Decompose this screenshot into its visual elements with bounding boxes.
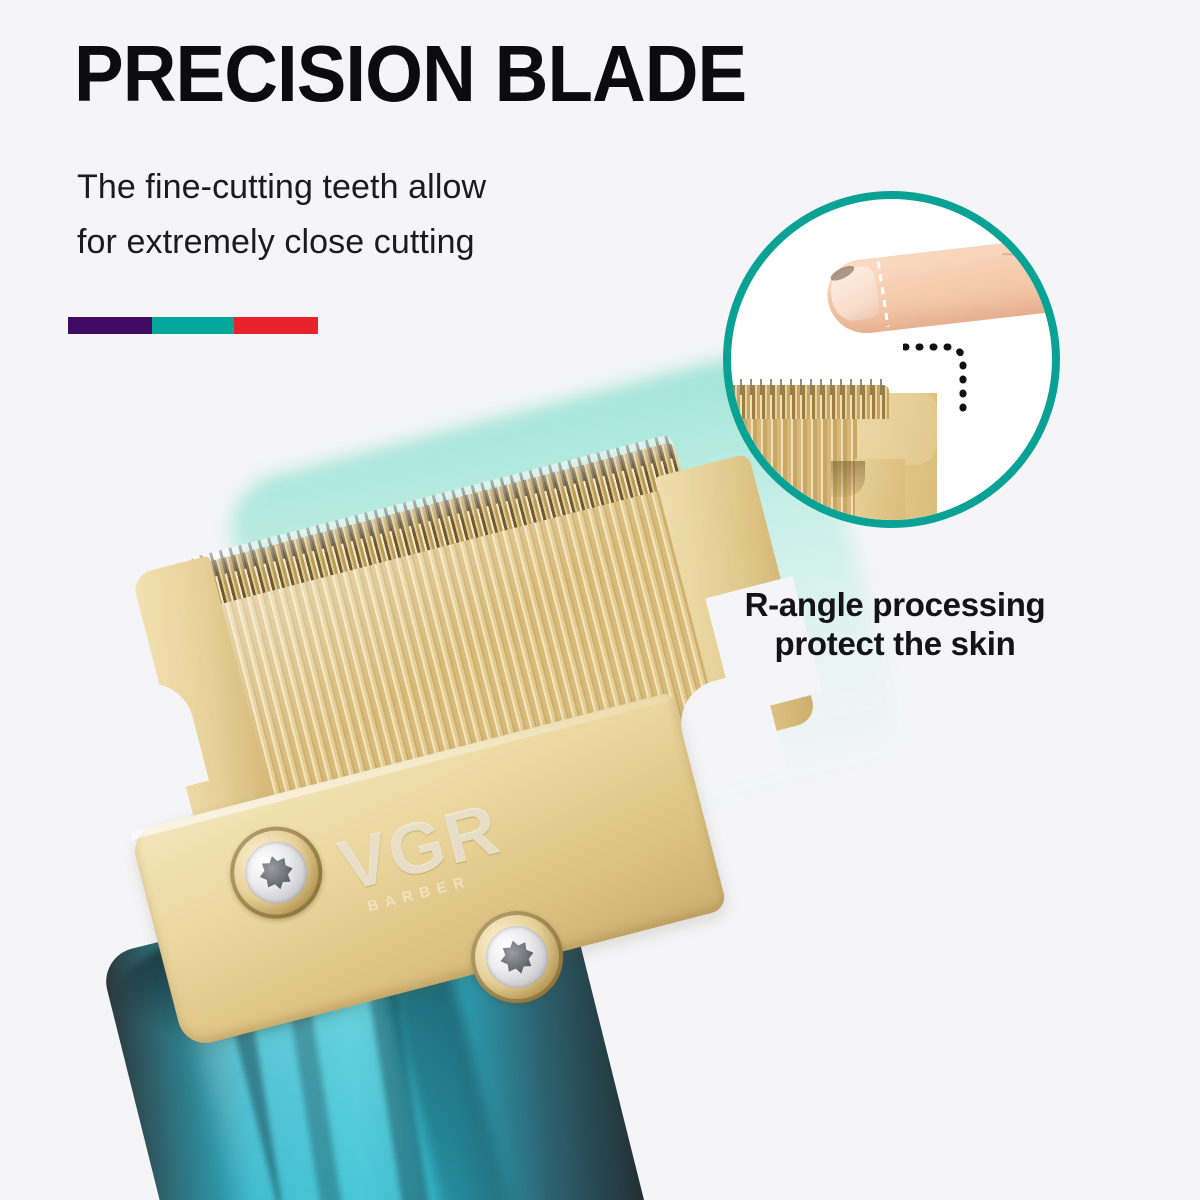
detail-inset-circle: [723, 191, 1060, 528]
torx-screw-icon: [256, 852, 297, 893]
fingertip-illustration: [824, 231, 1052, 337]
screw-recess: [479, 919, 555, 995]
product-feature-banner: PRECISION BLADE The fine-cutting teeth a…: [0, 0, 1200, 1200]
inset-caption: R-angle processing protect the skin: [700, 586, 1090, 664]
finger-crease-dashes: [877, 261, 890, 327]
torx-screw-icon: [496, 936, 537, 977]
screw-recess: [238, 835, 314, 911]
detail-inset-clip: [731, 199, 1052, 520]
knuckle-line: [1002, 253, 1052, 257]
r-angle-dotted-corner-icon: [903, 339, 979, 419]
inset-caption-line-1: R-angle processing: [700, 586, 1090, 625]
inset-caption-line-2: protect the skin: [700, 625, 1090, 664]
inset-blade-teeth-tips: [731, 379, 889, 395]
fingernail: [827, 265, 882, 325]
